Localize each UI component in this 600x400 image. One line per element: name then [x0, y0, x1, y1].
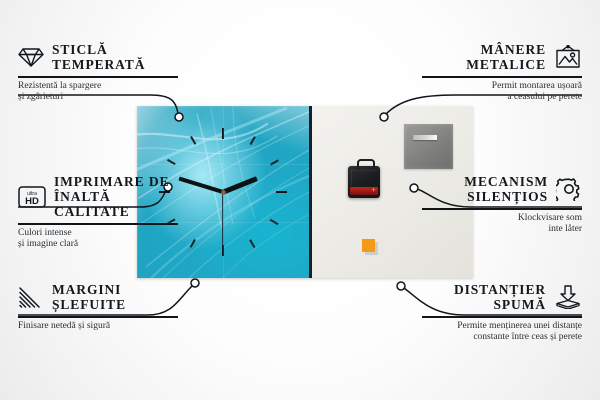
callout-title: MECANISM SILENȚIOS — [464, 174, 548, 204]
callout-rule — [18, 76, 178, 78]
battery: + — [350, 187, 378, 195]
beveled-edge-icon — [18, 286, 44, 308]
metal-hanger-plate — [404, 124, 453, 169]
callout-rule — [422, 316, 582, 318]
callout-rule — [422, 208, 582, 210]
callout-title: DISTANȚIER SPUMĂ — [454, 282, 546, 312]
callout-desc: Culori intense și imagine clară — [18, 228, 178, 251]
callout-imprimare-inalta-calitate: ultra HD IMPRIMARE DE ÎNALTĂ CALITATE Cu… — [18, 174, 178, 251]
mechanism-hanger-loop — [357, 159, 375, 170]
callout-sticla-temperata: STICLĂ TEMPERATĂ Rezistentă la spargere … — [18, 42, 178, 104]
hanging-frame-icon — [554, 45, 582, 69]
press-down-pad-icon — [554, 285, 582, 309]
callout-title: IMPRIMARE DE ÎNALTĂ CALITATE — [54, 174, 178, 219]
callout-distantier-spuma: DISTANȚIER SPUMĂ Permite menținerea unei… — [422, 282, 582, 344]
battery-plus-label: + — [371, 188, 376, 193]
hanger-slot — [413, 135, 437, 140]
callout-rule — [422, 76, 582, 78]
clock-hub — [221, 190, 226, 195]
foam-spacer — [362, 239, 375, 252]
callout-manere-metalice: MÂNERE METALICE Permit montarea ușoară a… — [422, 42, 582, 104]
gear-icon — [556, 177, 582, 201]
callout-title: MARGINI ȘLEFUITE — [52, 282, 126, 312]
callout-desc: Permite menținerea unei distanțe constan… — [422, 321, 582, 344]
callout-desc: Rezistentă la spargere și zgârieturi — [18, 81, 178, 104]
callout-desc: Permit montarea ușoară a ceasului pe per… — [422, 81, 582, 104]
callout-title: MÂNERE METALICE — [466, 42, 546, 72]
mechanism-texture — [351, 170, 377, 186]
callout-title: STICLĂ TEMPERATĂ — [52, 42, 145, 72]
diamond-icon — [18, 46, 44, 68]
ultra-hd-large-text: HD — [25, 196, 39, 207]
callout-rule — [18, 223, 178, 225]
callout-desc: Finisare netedă și sigură — [18, 321, 178, 333]
callout-margini-slefuite: MARGINI ȘLEFUITE Finisare netedă și sigu… — [18, 282, 178, 332]
callout-rule — [18, 316, 178, 318]
callout-desc: Klockvisare som inte låter — [422, 213, 582, 236]
clock-mechanism: + — [348, 166, 380, 198]
ultra-hd-icon: ultra HD — [18, 186, 46, 208]
callout-mecanism-silentios: MECANISM SILENȚIOS Klockvisare som inte … — [422, 174, 582, 236]
